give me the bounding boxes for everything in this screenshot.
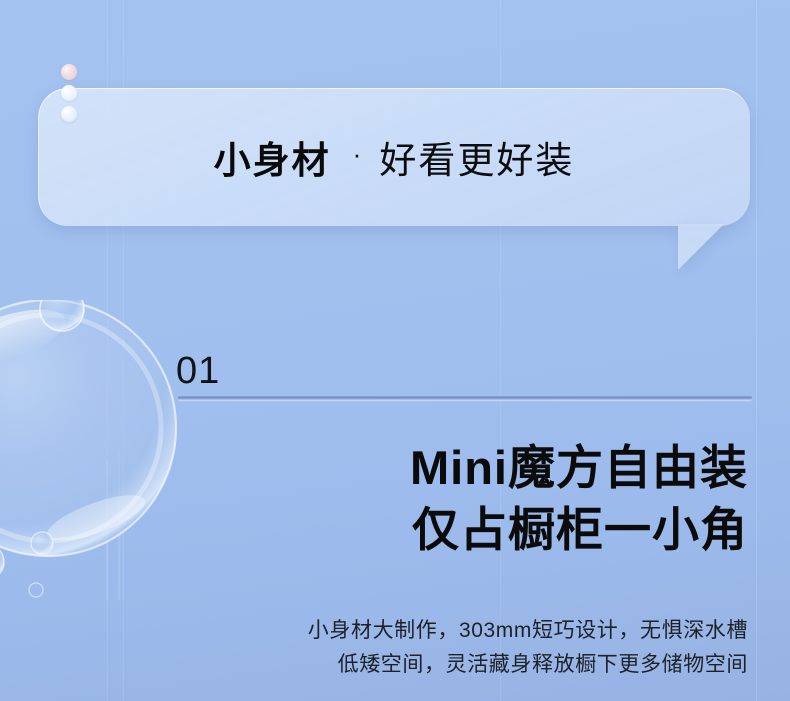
headline-speech-balloon: 小身材 · 好看更好装 [38, 88, 750, 274]
water-bubbles-icon [0, 300, 180, 600]
balloon-title: 小身材 · 好看更好装 [38, 88, 750, 226]
product-feature-poster: 小身材 · 好看更好装 01 Mini魔方自由装 仅占橱柜一小角 小身材大制作，… [0, 0, 790, 701]
body-copy-line-1: 小身材大制作，303mm短巧设计，无惧深水槽 [308, 614, 748, 648]
balloon-title-normal: 好看更好装 [379, 130, 574, 184]
headline-line-1: Mini魔方自由装 [410, 437, 748, 499]
section-headline: Mini魔方自由装 仅占橱柜一小角 [410, 437, 748, 561]
body-copy-line-2: 低矮空间，灵活藏身释放橱下更多储物空间 [308, 648, 748, 682]
balloon-tail [678, 224, 724, 270]
section-body-copy: 小身材大制作，303mm短巧设计，无惧深水槽 低矮空间，灵活藏身释放橱下更多储物… [308, 614, 748, 682]
headline-line-2: 仅占橱柜一小角 [410, 499, 748, 561]
section-divider [178, 396, 752, 400]
balloon-title-strong: 小身材 [214, 130, 331, 184]
section-number: 01 [176, 352, 220, 390]
balloon-title-separator: · [353, 139, 362, 170]
decor-dot-white-lower-icon [61, 106, 77, 122]
background-seam-line [756, 0, 757, 701]
decor-dot-pink-icon [61, 64, 77, 80]
decor-dot-white-upper-icon [61, 85, 77, 101]
